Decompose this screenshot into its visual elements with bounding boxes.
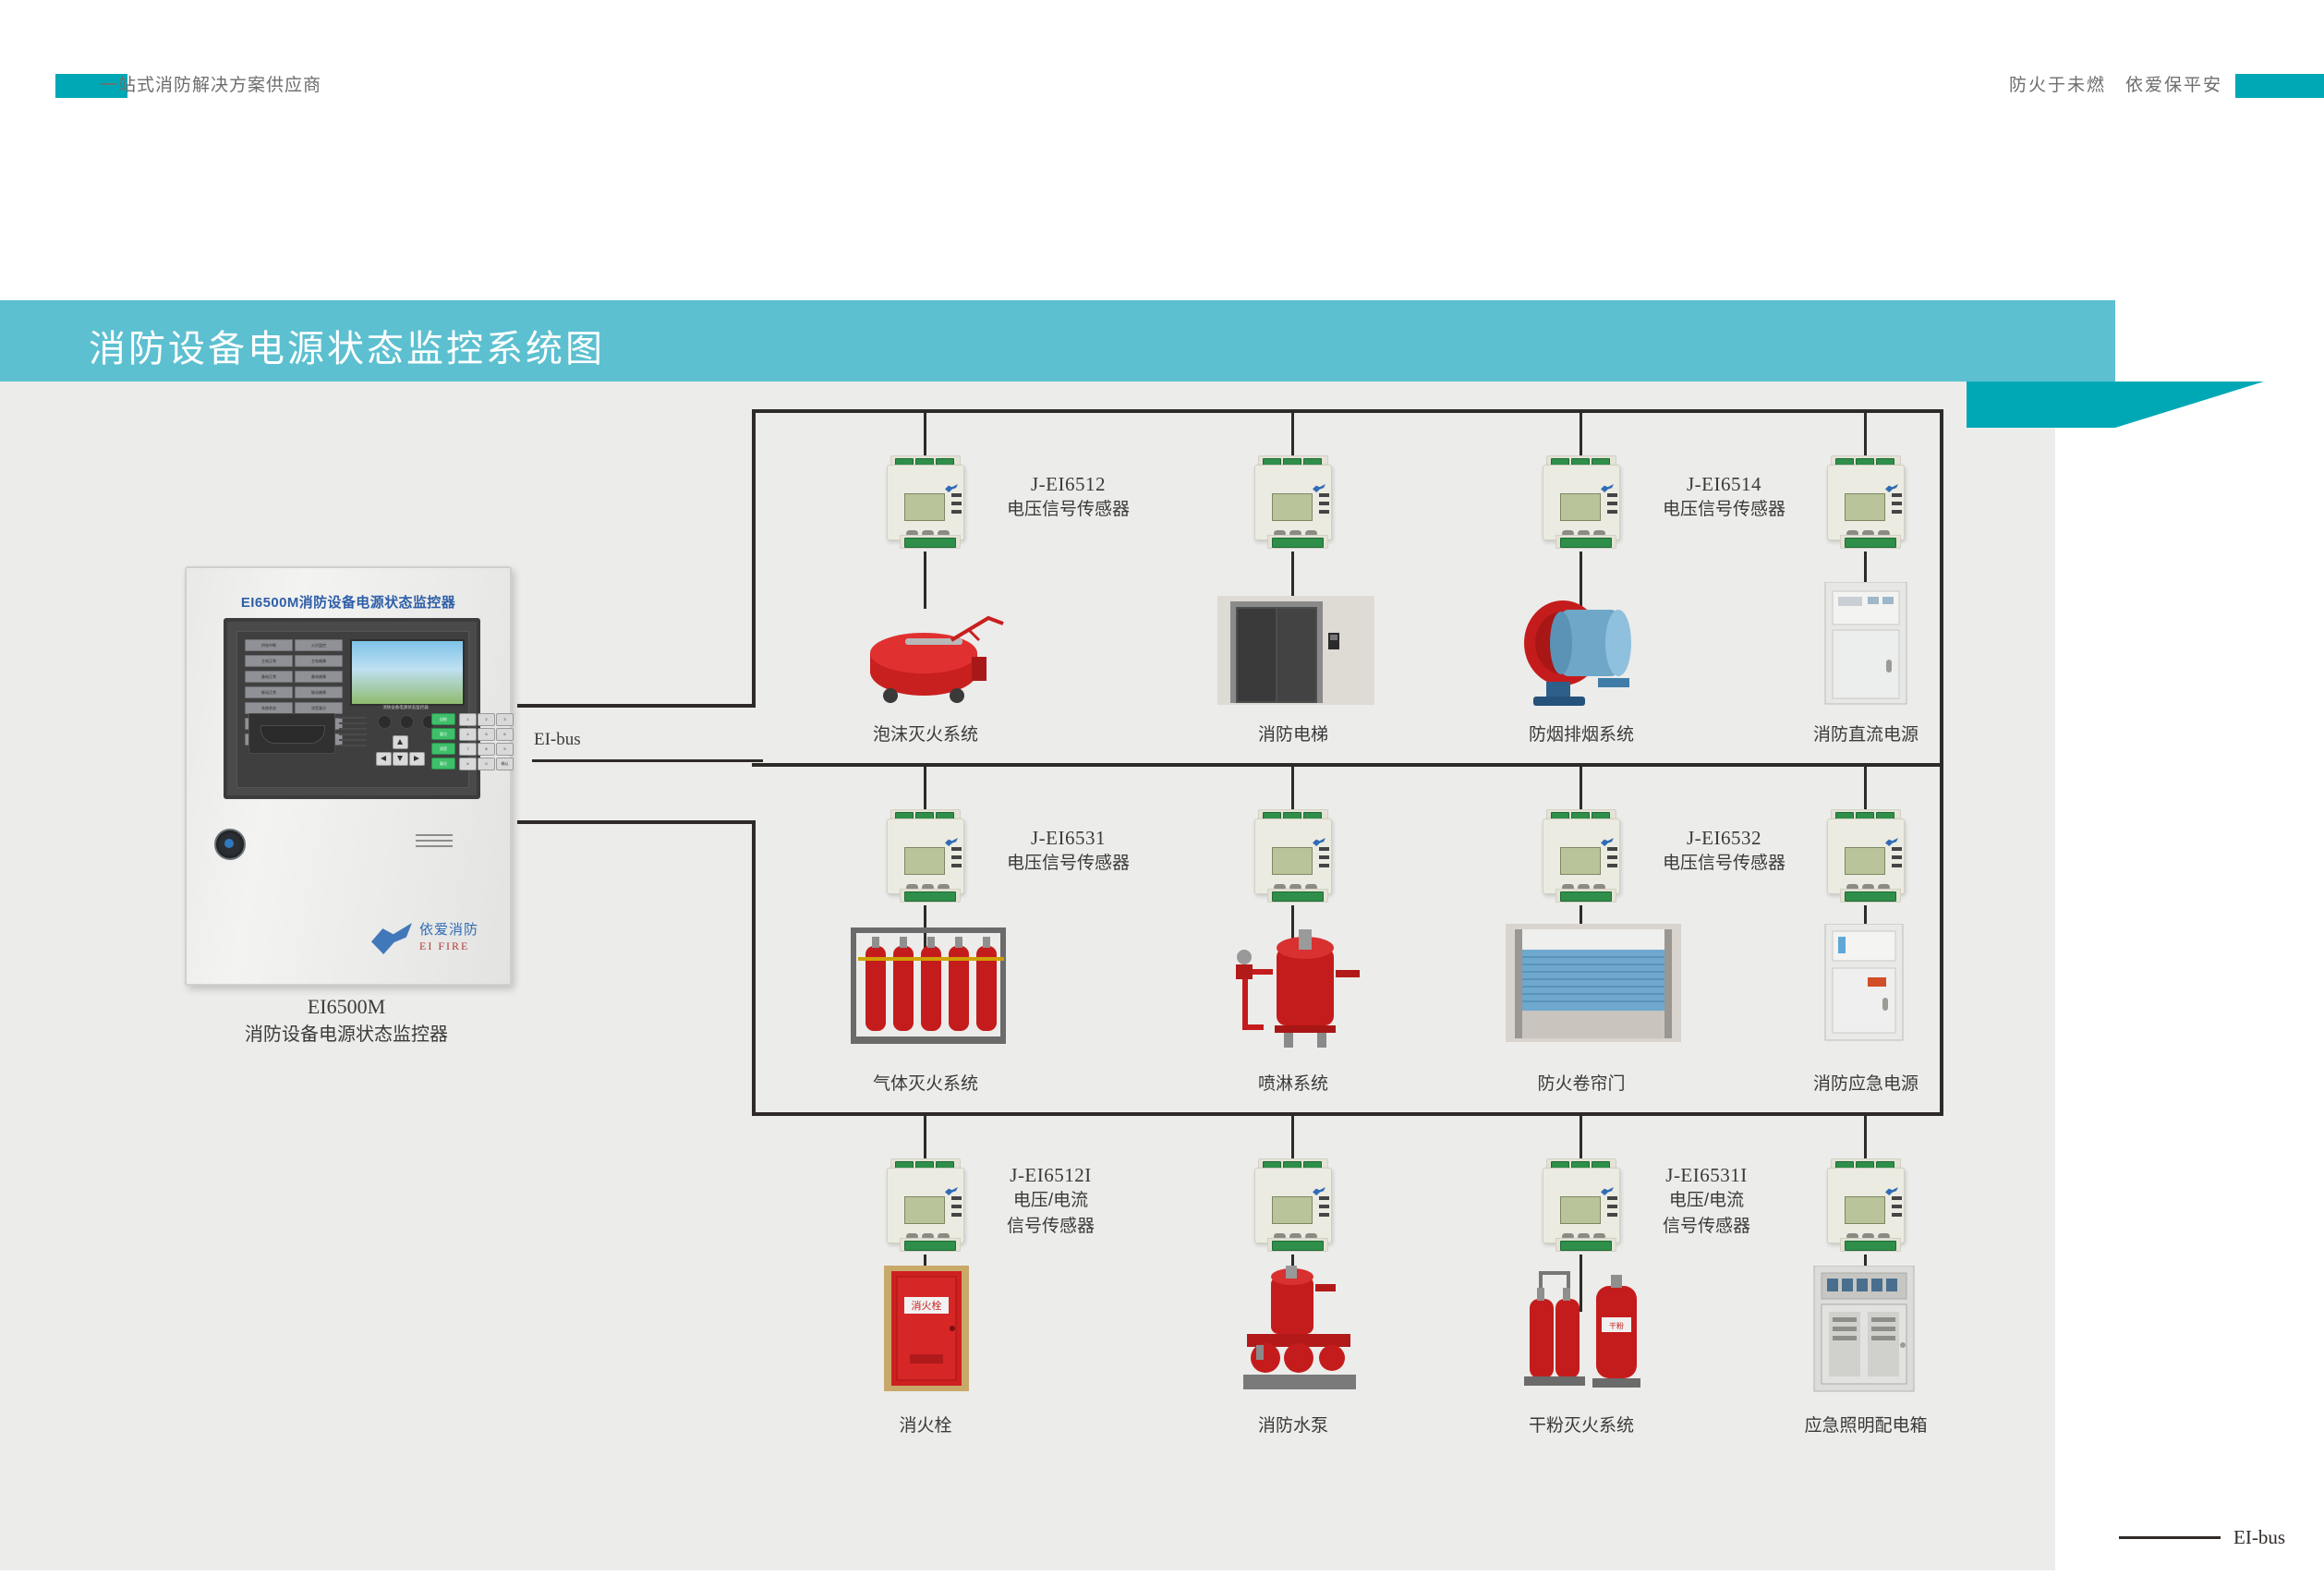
dc-power-cabinet-icon	[1822, 582, 1910, 707]
sensor-bottom-terminals	[1267, 889, 1328, 903]
sensor-status-leds	[1887, 1196, 1904, 1221]
terminal-block	[1845, 891, 1896, 902]
sensor-status-leds	[947, 493, 963, 518]
drop-r2c2-up	[1291, 763, 1294, 809]
green-button-1[interactable]: 自检	[431, 713, 455, 725]
sensor-code: J-EI6512I	[1007, 1162, 1095, 1188]
sensor-brand-icon	[1313, 1187, 1325, 1195]
terminal-block	[1272, 1241, 1324, 1251]
sensor-housing	[1543, 465, 1620, 540]
svg-text:干粉: 干粉	[1609, 1321, 1624, 1330]
drop-r3c4-up	[1864, 1112, 1867, 1158]
sensor-brand-icon	[1885, 838, 1898, 846]
drop-r3c2-up	[1291, 1112, 1294, 1158]
sensor-lcd	[1272, 493, 1313, 521]
emergency-lighting-cabinet-icon	[1810, 1266, 1918, 1393]
device-label-r2c3: 防火卷帘门	[1461, 1070, 1701, 1095]
sensor-housing	[1543, 1168, 1620, 1243]
ribbon-fold-decoration	[1967, 382, 2264, 428]
terminal-block	[1560, 538, 1612, 548]
device-label-r2c4: 消防应急电源	[1746, 1070, 1986, 1095]
controller-model: EI6500M	[148, 993, 545, 1021]
led-indicator: 联动故障	[295, 686, 343, 698]
sensor-housing	[1254, 1168, 1332, 1243]
sensor-module-r2c1[interactable]	[879, 809, 970, 902]
knob-query[interactable]	[400, 715, 414, 729]
sensor-lcd	[1845, 493, 1885, 521]
led-indicator: 备电正常	[245, 671, 293, 683]
sensor-bottom-terminals	[900, 1238, 961, 1252]
sensor-desc-1: 电压/电流	[1663, 1188, 1750, 1214]
page-header: 一站式消防解决方案供应商 防火于未燃 依爱保平安	[0, 67, 2324, 105]
sensor-bottom-terminals	[900, 889, 961, 903]
keypad-key-confirm[interactable]: 确认	[496, 758, 514, 770]
keypad-key-6[interactable]: 6	[496, 728, 514, 741]
drop-r2c1-up	[924, 763, 926, 809]
sprinkler-system-icon	[1219, 924, 1372, 1049]
drop-r3c3-up	[1580, 1112, 1582, 1158]
keypad-key-0[interactable]: 0	[478, 758, 495, 770]
device-foam-tank	[850, 596, 1016, 707]
device-label-r1c3: 防烟排烟系统	[1461, 721, 1701, 746]
terminal-block	[1272, 891, 1324, 902]
sensor-bottom-terminals	[900, 535, 961, 549]
device-label-r1c4: 消防直流电源	[1746, 721, 1986, 746]
sensor-brand-icon	[1313, 484, 1325, 492]
sensor-module-r1c4[interactable]	[1820, 455, 1910, 548]
sensor-label-r1c3: J-EI6514 电压信号传感器	[1663, 471, 1785, 523]
keypad-key-1[interactable]: 1	[459, 713, 477, 726]
terminal-block	[1560, 1241, 1612, 1251]
sensor-desc: 电压信号传感器	[1663, 497, 1785, 523]
arrow-down-icon[interactable]	[393, 752, 408, 766]
smoke-exhaust-fan-icon	[1506, 589, 1653, 709]
sensor-label-r2c1: J-EI6531 电压信号传感器	[1007, 825, 1130, 877]
keypad-key-hash[interactable]: #	[459, 758, 477, 770]
sensor-desc-2: 信号传感器	[1663, 1214, 1750, 1240]
device-gas-cylinders	[845, 924, 1011, 1053]
controller-panel-title: EI6500M消防设备电源状态监控器	[187, 592, 510, 612]
device-label-r2c1: 气体灭火系统	[805, 1070, 1046, 1095]
arrow-right-icon[interactable]	[409, 752, 425, 766]
drop-r1c4-up	[1864, 409, 1867, 455]
sensor-status-leds	[1603, 1196, 1619, 1221]
led-indicator: 联动正常	[245, 686, 293, 698]
device-label-r1c1: 泡沫灭火系统	[805, 721, 1046, 746]
fire-roller-shutter-icon	[1506, 924, 1681, 1042]
dry-powder-system-icon: 干粉	[1515, 1266, 1653, 1393]
terminal-block	[1845, 1241, 1896, 1251]
sensor-label-r2c3: J-EI6532 电压信号传感器	[1663, 825, 1785, 877]
sensor-lcd	[1845, 1196, 1885, 1224]
keypad-key-7[interactable]: 7	[459, 743, 477, 756]
sensor-module-r3c3[interactable]	[1535, 1158, 1626, 1251]
sensor-status-leds	[947, 1196, 963, 1221]
speaker-slots-icon	[416, 834, 453, 853]
sensor-housing	[1254, 818, 1332, 894]
controller-faceplate: 供电中断 主电正常 备电正常 联动正常 系统状态 消音 故障 火灾监控 主电故障…	[236, 631, 469, 788]
header-slogan-left: 一站式消防解决方案供应商	[100, 74, 321, 98]
bus-wire-row2-mid	[752, 763, 1943, 767]
sensor-brand-icon	[1313, 838, 1325, 846]
sensor-status-leds	[1314, 847, 1331, 872]
brand-name-en: EI FIRE	[419, 939, 469, 953]
page-title: 消防设备电源状态监控系统图	[89, 319, 605, 372]
sensor-housing	[887, 818, 964, 894]
terminal-block	[1560, 891, 1612, 902]
sensor-bottom-terminals	[1555, 535, 1616, 549]
svg-text:消火栓: 消火栓	[912, 1299, 942, 1312]
sensor-lcd	[904, 1196, 945, 1224]
controller-lcd-caption: 消防设备电源状态监控器	[350, 705, 461, 710]
sensor-brand-icon	[1885, 1187, 1898, 1195]
green-button-2[interactable]: 复位	[431, 728, 455, 740]
sensor-brand-icon	[1601, 484, 1614, 492]
sensor-desc: 电压信号传感器	[1007, 497, 1130, 523]
bus-inline-underline	[532, 759, 763, 762]
keypad-key-8[interactable]: 8	[478, 743, 495, 756]
section-title-ribbon: 消防设备电源状态监控系统图	[0, 300, 2115, 382]
keypad-key-4[interactable]: 4	[459, 728, 477, 741]
device-label-r3c2: 消防水泵	[1173, 1412, 1413, 1436]
bus-wire-row2-riser	[752, 820, 756, 1116]
gas-suppression-icon	[845, 924, 1011, 1049]
eagle-logo-icon	[371, 923, 412, 954]
sensor-lcd	[1560, 1196, 1601, 1224]
sensor-lcd	[1560, 493, 1601, 521]
sensor-bottom-terminals	[1840, 889, 1901, 903]
controller-bezel: 供电中断 主电正常 备电正常 联动正常 系统状态 消音 故障 火灾监控 主电故障…	[224, 618, 480, 799]
sensor-housing	[1827, 818, 1905, 894]
led-indicator: 供电中断	[245, 639, 293, 651]
controller-unit[interactable]: EI6500M消防设备电源状态监控器 供电中断 主电正常 备电正常 联动正常 系…	[185, 566, 517, 991]
device-eps-cabinet	[1822, 924, 1906, 1047]
knob-selftest[interactable]	[378, 715, 392, 729]
green-button-4[interactable]: 复位	[431, 758, 455, 770]
led-indicator: 备电故障	[295, 671, 343, 683]
sensor-housing	[887, 465, 964, 540]
foam-extinguisher-icon	[850, 596, 1016, 707]
keypad-key-5[interactable]: 5	[478, 728, 495, 741]
terminal-block	[904, 1241, 956, 1251]
sensor-status-leds	[1887, 493, 1904, 518]
keypad-key-9[interactable]: 9	[496, 743, 514, 756]
fire-water-pump-icon	[1229, 1266, 1367, 1393]
brand-logo: 依爱消防 EI FIRE	[371, 919, 501, 964]
sensor-code: J-EI6531I	[1663, 1162, 1750, 1188]
bus-wire-right-seg2	[1940, 763, 1943, 1116]
sensor-bottom-terminals	[1267, 535, 1328, 549]
sensor-brand-icon	[945, 1187, 958, 1195]
sensor-module-r1c1[interactable]	[879, 455, 970, 548]
bus-inline-label: EI-bus	[534, 730, 581, 750]
sensor-code: J-EI6512	[1007, 471, 1130, 497]
door-lock-icon[interactable]	[214, 829, 246, 860]
device-dc-cabinet	[1822, 582, 1910, 707]
device-hydrant-box: 消火栓	[882, 1266, 971, 1398]
legend-line-sample	[2119, 1536, 2221, 1539]
sensor-module-r2c4[interactable]	[1820, 809, 1910, 902]
sensor-module-r3c4[interactable]	[1820, 1158, 1910, 1251]
bus-wire-row1-top	[752, 409, 1943, 413]
controller-caption: EI6500M 消防设备电源状态监控器	[148, 993, 545, 1049]
sensor-bottom-terminals	[1555, 889, 1616, 903]
sensor-bottom-terminals	[1840, 1238, 1901, 1252]
sensor-label-r3c3: J-EI6531I 电压/电流 信号传感器	[1663, 1162, 1750, 1240]
controller-lcd-screen[interactable]	[350, 639, 465, 706]
led-indicator: 主电正常	[245, 655, 293, 667]
device-label-r2c2: 喷淋系统	[1173, 1070, 1413, 1095]
device-label-r1c2: 消防电梯	[1173, 721, 1413, 746]
sensor-status-leds	[1314, 1196, 1331, 1221]
fire-hydrant-box-icon: 消火栓	[882, 1266, 971, 1393]
keypad-key-3[interactable]: 3	[496, 713, 514, 726]
sensor-bottom-terminals	[1840, 535, 1901, 549]
emergency-power-cabinet-icon	[1822, 924, 1906, 1042]
sensor-lcd	[904, 493, 945, 521]
arrow-left-icon[interactable]	[376, 752, 392, 766]
header-slogan-right: 防火于未燃 依爱保平安	[2009, 74, 2222, 98]
sensor-bottom-terminals	[1267, 1238, 1328, 1252]
arrow-up-icon[interactable]	[393, 735, 408, 749]
sensor-code: J-EI6514	[1663, 471, 1785, 497]
sensor-desc: 电压信号传感器	[1663, 851, 1785, 877]
sensor-status-leds	[1603, 847, 1619, 872]
sensor-brand-icon	[1601, 838, 1614, 846]
sensor-lcd	[1272, 847, 1313, 875]
legend-label: EI-bus	[2233, 1526, 2285, 1549]
led-indicator: 主电故障	[295, 655, 343, 667]
sensor-lcd	[1845, 847, 1885, 875]
sensor-brand-icon	[1601, 1187, 1614, 1195]
vent-grille-icon	[339, 713, 367, 752]
device-roller-shutter	[1506, 924, 1681, 1047]
device-smoke-fan	[1506, 589, 1653, 709]
sensor-desc-2: 信号传感器	[1007, 1214, 1095, 1240]
drop-r2c4-up	[1864, 763, 1867, 809]
keypad-key-2[interactable]: 2	[478, 713, 495, 726]
sensor-module-r1c3[interactable]	[1535, 455, 1626, 548]
drop-r1c1-up	[924, 409, 926, 455]
brand-name-cn: 依爱消防	[419, 919, 478, 939]
device-label-r3c3: 干粉灭火系统	[1461, 1412, 1701, 1436]
drop-r3c1-up	[924, 1112, 926, 1158]
sensor-desc-1: 电压/电流	[1007, 1188, 1095, 1214]
sensor-code: J-EI6532	[1663, 825, 1785, 851]
sensor-housing	[887, 1168, 964, 1243]
sensor-housing	[1827, 465, 1905, 540]
elevator-icon	[1217, 596, 1374, 705]
drop-r2c3-up	[1580, 763, 1582, 809]
sensor-brand-icon	[1885, 484, 1898, 492]
sensor-status-leds	[1603, 493, 1619, 518]
bus-wire-row1-horizontal	[517, 704, 756, 708]
sensor-desc: 电压信号传感器	[1007, 851, 1130, 877]
sensor-code: J-EI6531	[1007, 825, 1130, 851]
sensor-module-r1c2[interactable]	[1247, 455, 1338, 548]
sensor-brand-icon	[945, 838, 958, 846]
sensor-module-r2c2[interactable]	[1247, 809, 1338, 902]
sensor-module-r2c3[interactable]	[1535, 809, 1626, 902]
sensor-housing	[1543, 818, 1620, 894]
controller-description: 消防设备电源状态监控器	[148, 1021, 545, 1049]
sensor-label-r1c1: J-EI6512 电压信号传感器	[1007, 471, 1130, 523]
sensor-bottom-terminals	[1555, 1238, 1616, 1252]
terminal-block	[904, 891, 956, 902]
green-button-3[interactable]: 消音	[431, 743, 455, 755]
device-water-pump	[1229, 1266, 1367, 1398]
terminal-block	[1845, 538, 1896, 548]
drop-r1c3-up	[1580, 409, 1582, 455]
device-powder-system: 干粉	[1515, 1266, 1653, 1398]
sensor-lcd	[1560, 847, 1601, 875]
device-label-r3c1: 消火栓	[805, 1412, 1046, 1436]
sensor-status-leds	[1887, 847, 1904, 872]
bus-wire-row3-bottom	[752, 1112, 1943, 1116]
sensor-status-leds	[947, 847, 963, 872]
printer-slot[interactable]	[248, 713, 335, 754]
device-label-r3c4: 应急照明配电箱	[1746, 1412, 1986, 1436]
bus-wire-row2-horizontal	[517, 820, 756, 824]
sensor-module-r3c2[interactable]	[1247, 1158, 1338, 1251]
sensor-module-r3c1[interactable]	[879, 1158, 970, 1251]
bus-wire-right-seg1	[1940, 409, 1943, 763]
sensor-lcd	[904, 847, 945, 875]
header-accent-bar-right	[2235, 74, 2324, 98]
bus-legend: EI-bus	[2119, 1526, 2285, 1549]
sensor-housing	[1254, 465, 1332, 540]
sensor-status-leds	[1314, 493, 1331, 518]
controller-cabinet: EI6500M消防设备电源状态监控器 供电中断 主电正常 备电正常 联动正常 系…	[185, 566, 512, 986]
sensor-lcd	[1272, 1196, 1313, 1224]
bus-wire-row1-riser	[752, 409, 756, 708]
led-indicator: 火灾监控	[295, 639, 343, 651]
sensor-brand-icon	[945, 484, 958, 492]
sensor-label-r3c1: J-EI6512I 电压/电流 信号传感器	[1007, 1162, 1095, 1240]
device-lighting-cabinet	[1810, 1266, 1918, 1398]
sensor-housing	[1827, 1168, 1905, 1243]
drop-r1c2-up	[1291, 409, 1294, 455]
terminal-block	[1272, 538, 1324, 548]
device-elevator	[1217, 596, 1374, 705]
terminal-block	[904, 538, 956, 548]
device-sprinkler	[1219, 924, 1372, 1053]
